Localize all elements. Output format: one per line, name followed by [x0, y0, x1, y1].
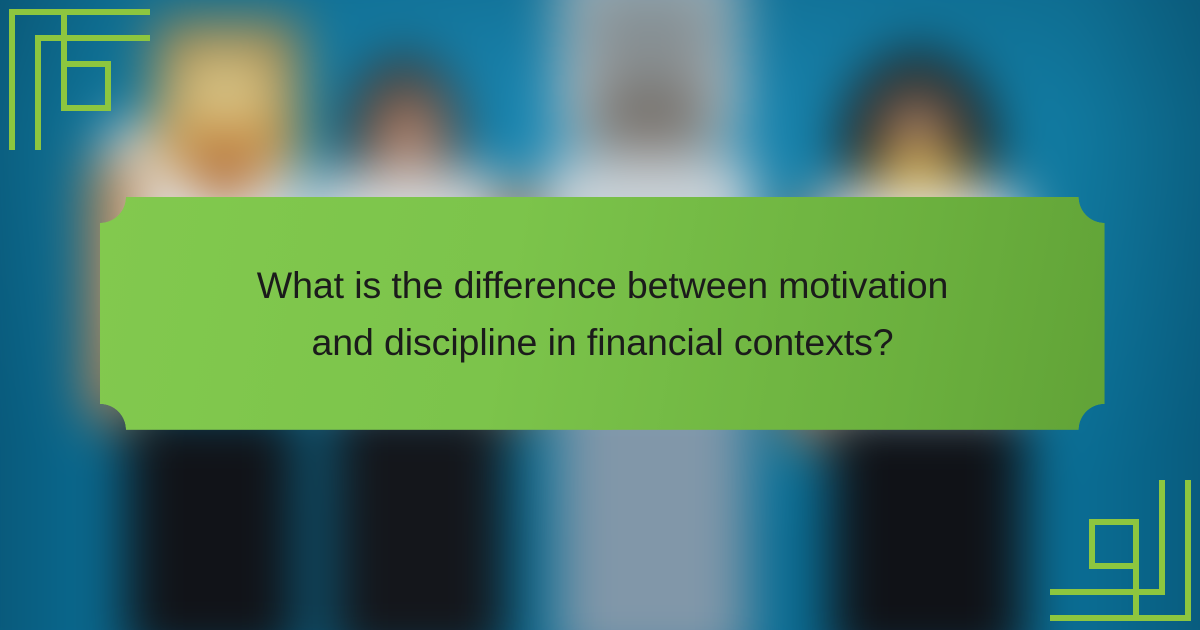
- corner-bracket-bottom-right-icon: [1050, 480, 1200, 630]
- question-card: What is the difference between motivatio…: [0, 0, 1200, 630]
- question-text: What is the difference between motivatio…: [163, 257, 1043, 371]
- question-banner: What is the difference between motivatio…: [100, 197, 1105, 430]
- corner-bracket-top-left-icon: [0, 0, 150, 150]
